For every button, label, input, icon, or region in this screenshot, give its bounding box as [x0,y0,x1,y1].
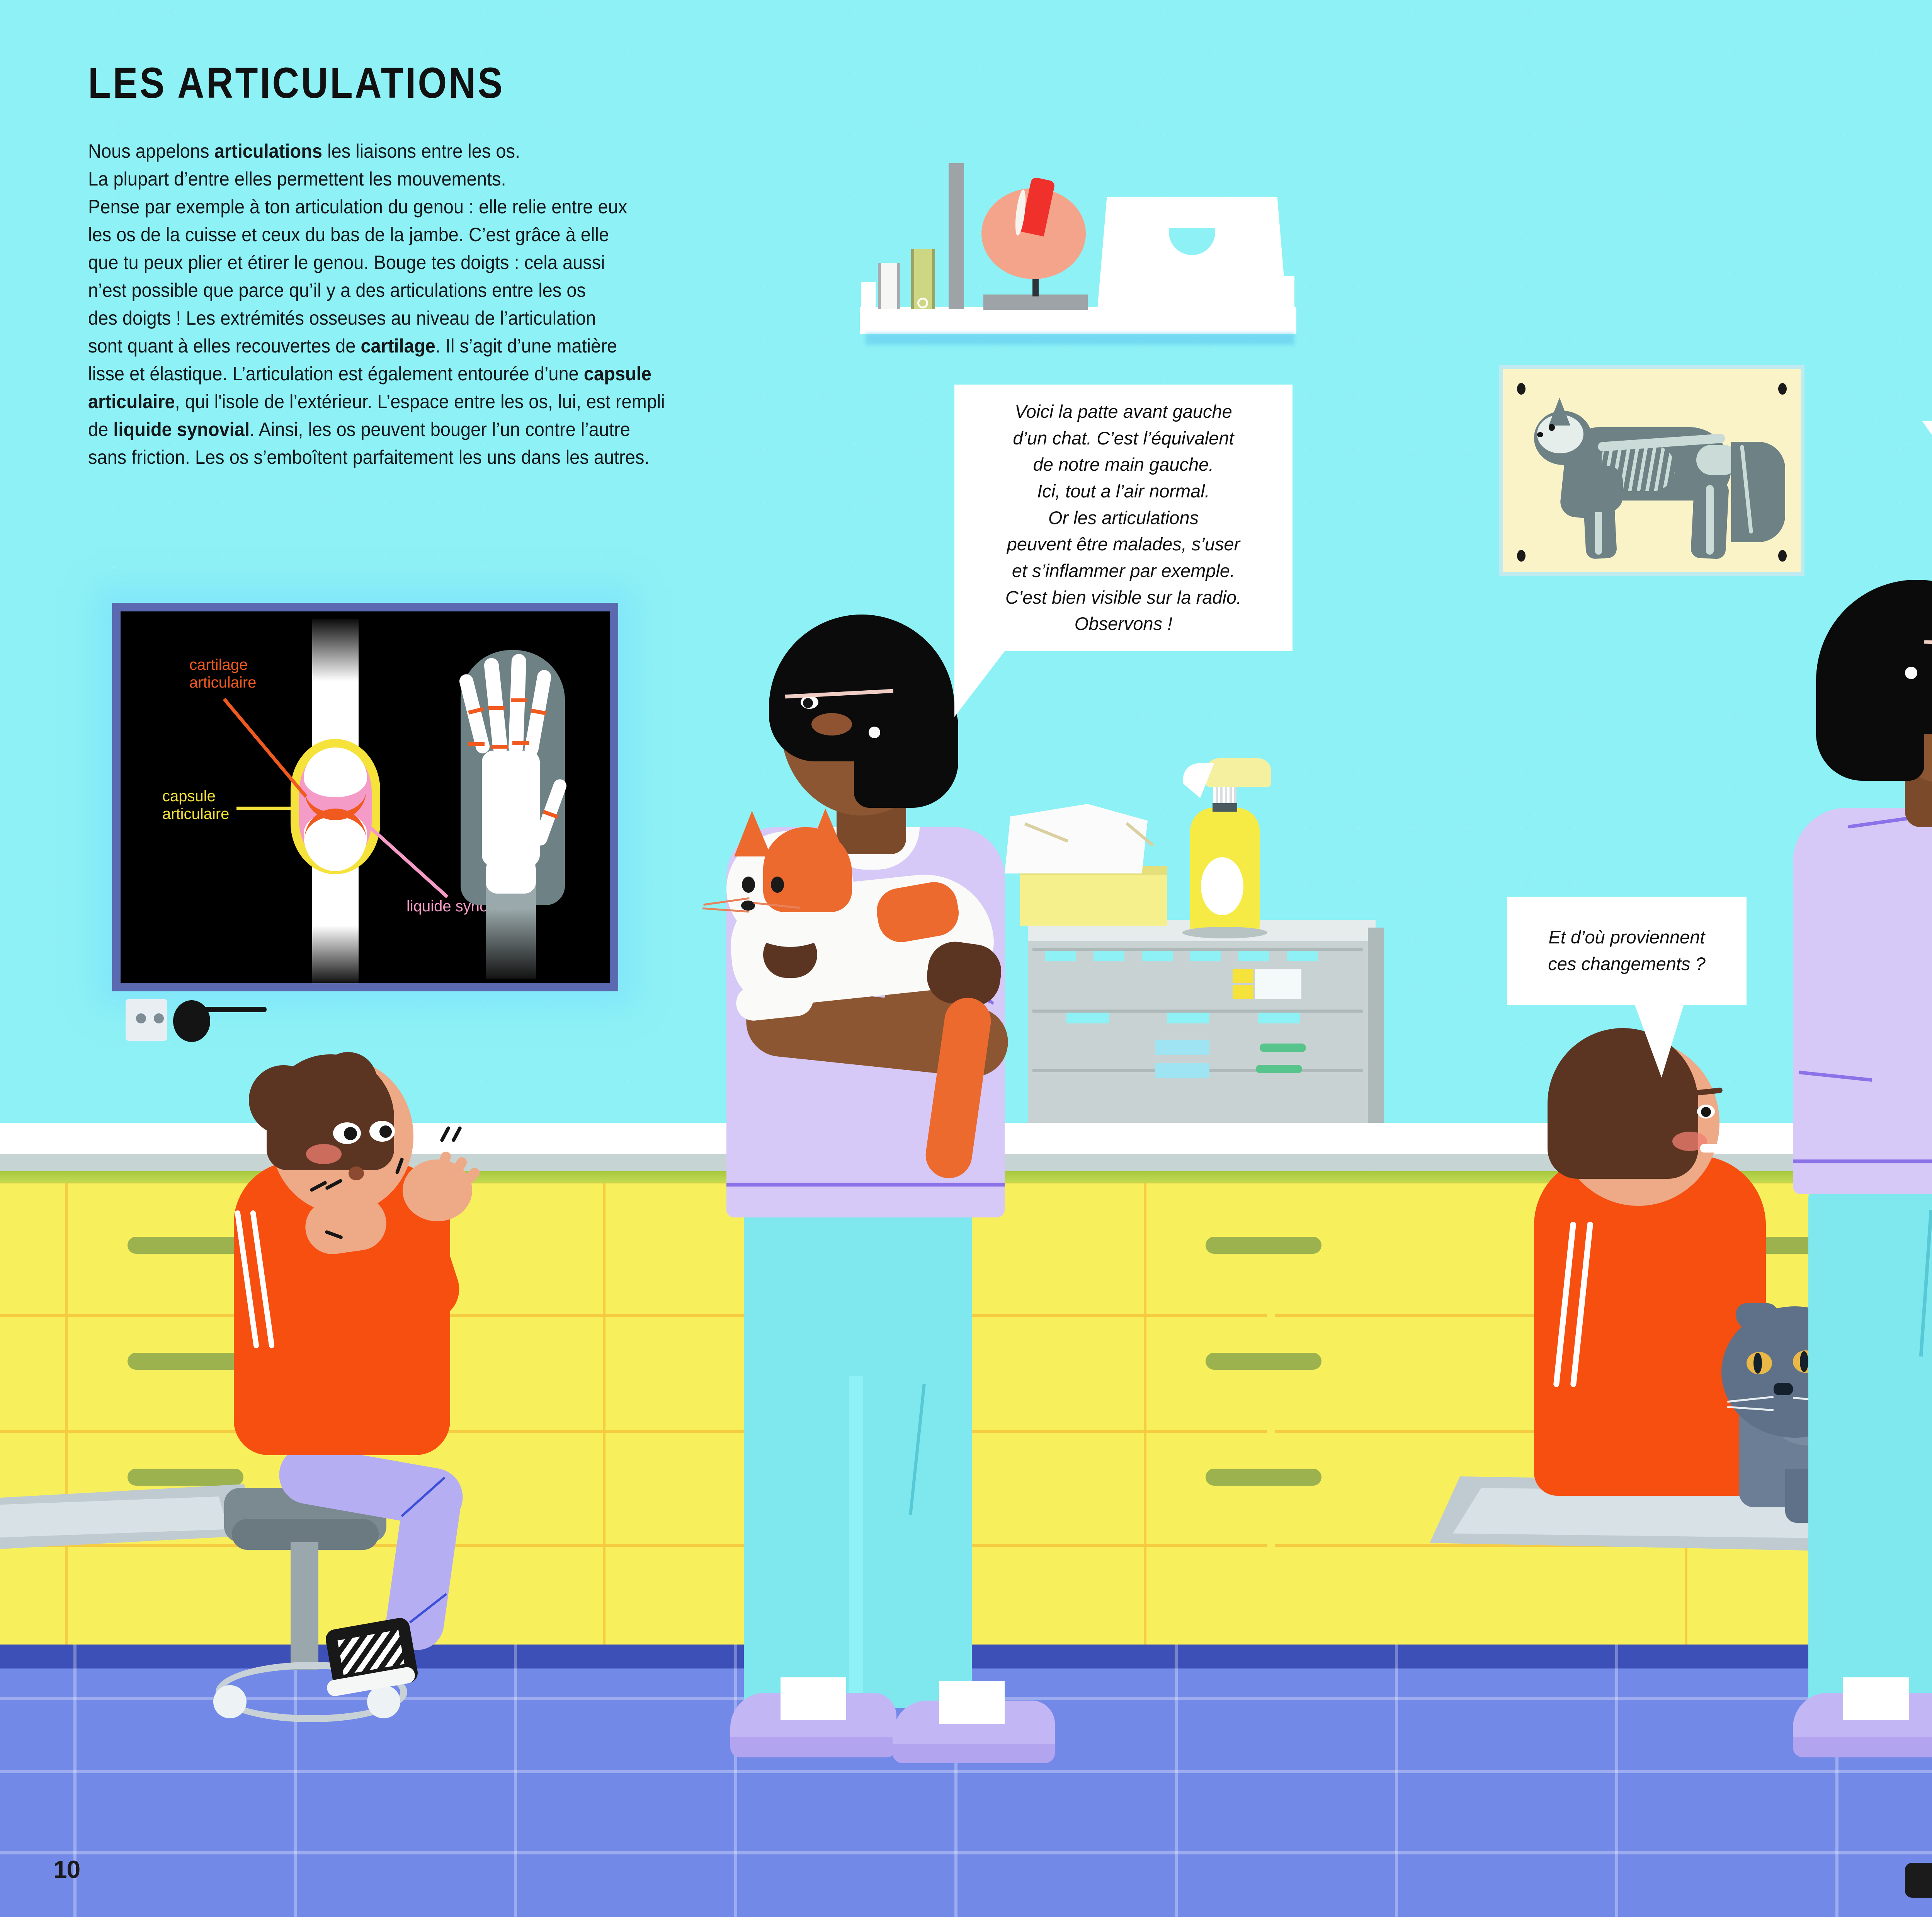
intro-paragraph: Nous appelons articulations les liaisons… [88,137,713,471]
ginger-cat-nose [741,901,755,911]
label-cartilage-articulaire: cartilage articulaire [189,656,256,692]
bin-content-paper [1255,969,1301,999]
plug-cable-left [201,1007,267,1012]
bin-label-7 [1066,1013,1109,1023]
ginger-cat-eye-right [771,877,784,893]
vet-left-hair-side [854,680,958,808]
bin-content-yellow [1233,969,1253,983]
boy-torso [1534,1156,1766,1496]
paw-joint-marker-7 [512,741,529,745]
vet-right-sock-a [1843,1677,1909,1720]
girl-pupil-right [379,1125,392,1138]
joint-screen-surface: cartilage articulaire capsule articulair… [121,611,610,983]
vet-left-croc-a-sole [730,1737,896,1757]
label-capsule-articulaire: capsule articulaire [162,787,229,823]
vet-left-trouser-split [849,1376,863,1701]
floor-line-v4 [734,1645,737,1917]
cabinet-handle-2[interactable] [128,1353,243,1370]
book-white [878,263,900,309]
wall-shelf [860,307,1296,334]
girl-cheek [306,1144,342,1164]
poster-screw-br [1778,550,1787,562]
girl-hair-bun-right [319,1052,377,1110]
bin-content-blue-card [1155,1040,1209,1055]
paw-joint-marker-3 [511,698,527,702]
supply-organizer-body[interactable] [1028,941,1368,1127]
girl-pupil-left [344,1127,357,1140]
vet-right-trousers [1808,1183,1932,1712]
bin-label-8 [1167,1013,1209,1023]
ginger-cat-eye-left [742,877,755,893]
poster-cat-chest [1577,466,1623,512]
bin-label-5 [1238,951,1269,961]
stool-column [291,1542,318,1670]
page-number-left: 10 [53,1855,80,1884]
scottish-fold-pupil-left [1753,1353,1762,1374]
bubble-vet-left-tail [954,651,1005,717]
cabinet-handle-1[interactable] [128,1237,243,1254]
exam-table-foot [1905,1863,1932,1898]
scottish-fold-ear-left [1736,1303,1778,1330]
girl-mouth [349,1166,364,1180]
girl-hair-bun-left [249,1065,318,1135]
paw-joint-marker-2 [488,706,505,710]
poster-screw-tr [1778,383,1787,395]
vet-left-tunic-hem [726,1183,1005,1187]
vet-right-tunic-hem [1793,1159,1932,1163]
floor-line-v8 [1615,1645,1618,1917]
book-olive-mark [917,298,928,308]
bubble-child-question: Et d’où proviennent ces changements ? [1507,897,1747,1005]
cabinet-seam-1 [0,1314,1267,1317]
cabinet-handle-6[interactable] [1206,1469,1321,1486]
poster-cat-tail [1731,442,1785,542]
floor-line-v7 [1395,1645,1398,1917]
spray-bottle-head [1206,758,1271,787]
synovial-leader-line [363,821,449,898]
book-grey [949,163,964,309]
bin-row-1 [1032,948,1363,951]
outlet-hole-left-b [154,1013,164,1023]
supply-organizer-side [1368,928,1384,1127]
bin-label-9 [1258,1013,1300,1023]
spray-bottle-shadow [1182,927,1267,938]
floor-line-v6 [1175,1645,1178,1917]
poster-cat-nose [1537,432,1543,437]
boy-mouth [1700,1144,1722,1153]
heart-model-base [983,295,1088,310]
syringe-1 [1260,1044,1306,1052]
cabinet-divider-2 [603,1183,605,1647]
cabinet-handle-3[interactable] [128,1469,243,1486]
floor-line-h3 [0,1851,1932,1854]
book-spread: LES ARTICULATIONS Nous appelons articula… [0,0,1932,1917]
cartilage-leader-line [223,698,308,798]
bubble-child-question-tail [1634,1004,1684,1078]
bin-content-yellow-2 [1233,985,1253,999]
cabinet-seam-2 [0,1430,1267,1433]
spray-bottle-collar [1213,803,1237,812]
bin-label-3 [1142,951,1173,961]
shelf-bracket-left [861,282,876,308]
poster-cat-hindleg-bone [1706,485,1714,555]
desk-monitor-side [1275,276,1294,309]
bin-label-6 [1287,951,1318,961]
poster-screw-tl [1517,383,1526,395]
bin-row-2 [1032,1010,1363,1013]
outlet-hole-left-a [136,1013,146,1023]
stool-caster-right [367,1685,400,1718]
syringe-2 [1256,1065,1302,1073]
vet-left-croc-b-sole [893,1744,1055,1763]
scottish-fold-nose [1774,1383,1793,1395]
paw-metacarpals-normal [482,751,540,867]
poster-screw-bl [1517,550,1526,562]
paw-joint-marker-5 [468,742,485,746]
capsule-leader-line [236,807,298,810]
vet-left-earring [869,727,880,738]
vet-left-cheek [811,713,852,735]
vet-right-croc-a-sole [1793,1737,1932,1757]
tissue-box [1020,872,1167,926]
stool-caster-left [213,1685,247,1718]
bin-label-2 [1094,951,1124,961]
paw-joint-marker-6 [491,745,508,749]
page-title: LES ARTICULATIONS [88,58,505,108]
cabinet-divider-3 [1144,1183,1146,1647]
cabinet-seam-3 [0,1544,1267,1547]
cat-skeleton-poster[interactable] [1499,365,1804,576]
vet-left-sock-a [781,1677,846,1720]
poster-cat-eye [1549,424,1555,431]
shelf-shadow [866,333,1294,345]
cabinet-divider-1 [65,1183,68,1647]
joint-anatomy-xray-screen[interactable]: cartilage articulaire capsule articulair… [112,603,618,991]
spray-bottle-label [1201,857,1243,915]
bubble-vet-right-top-tail [1922,421,1932,491]
vet-left-pupil [803,698,813,708]
vet-right-tunic [1793,808,1932,1194]
vet-right-earring [1905,667,1917,679]
cabinet-handle-5[interactable] [1206,1353,1321,1370]
floor-line-v3 [514,1645,517,1917]
scottish-fold-pupil-right [1800,1351,1808,1372]
boy-pupil [1701,1107,1711,1117]
cabinet-handle-4[interactable] [1206,1237,1321,1254]
vet-left-sock-b [939,1681,1005,1724]
bin-content-blue-card-2 [1155,1063,1209,1078]
bin-label-4 [1190,951,1221,961]
bin-label-1 [1045,951,1076,961]
bubble-vet-left: Voici la patte avant gauche d’un chat. C… [954,385,1293,651]
floor-line-h2 [0,1770,1932,1773]
paw-carpals-normal [486,859,536,894]
